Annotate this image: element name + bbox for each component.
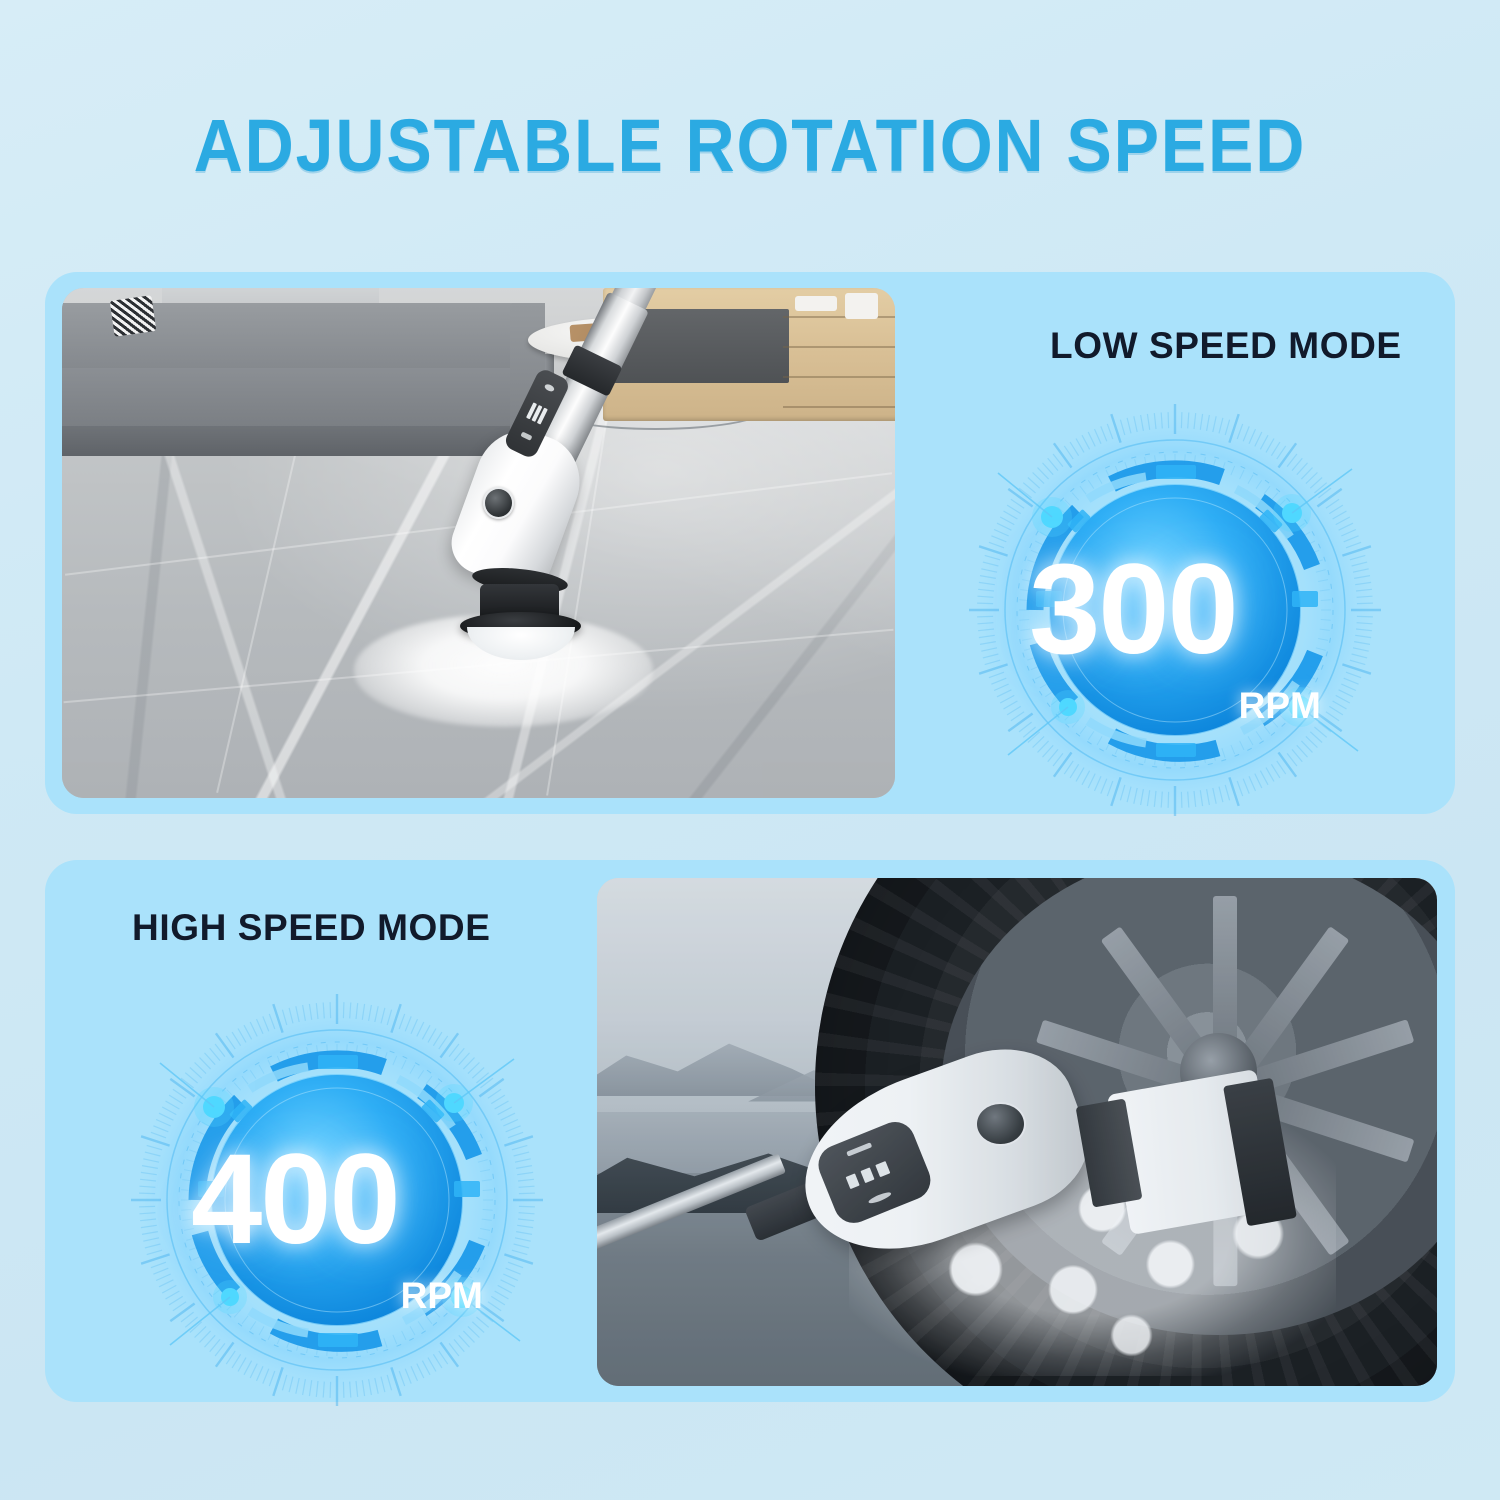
sideboard-object	[795, 296, 837, 311]
low-speed-rpm-value: 300	[1029, 546, 1237, 674]
sideboard-object	[845, 293, 878, 319]
floor-scene	[62, 288, 895, 798]
low-speed-rpm-unit: RPM	[1239, 685, 1321, 727]
page-title: ADJUSTABLE ROTATION SPEED	[60, 103, 1440, 188]
low-speed-mode-label: LOW SPEED MODE	[1050, 325, 1402, 367]
wheel-scene	[597, 878, 1437, 1386]
sofa-seat	[62, 368, 545, 428]
sofa-base	[62, 426, 545, 457]
speed-arrow-icon	[520, 431, 532, 440]
floor-reflection	[62, 400, 895, 798]
high-speed-rpm-value: 400	[191, 1136, 399, 1264]
low-speed-rpm-gauge: 300 RPM	[960, 395, 1390, 825]
car-wheel-cleaning-photo	[597, 878, 1437, 1386]
high-speed-rpm-unit: RPM	[401, 1275, 483, 1317]
high-speed-mode-label: HIGH SPEED MODE	[132, 907, 491, 949]
power-icon	[544, 383, 555, 393]
floor-cleaning-photo	[62, 288, 895, 798]
checkered-pillow	[110, 295, 156, 336]
photo-color-tint	[597, 878, 1437, 1386]
high-speed-rpm-gauge: 400 RPM	[122, 985, 552, 1415]
